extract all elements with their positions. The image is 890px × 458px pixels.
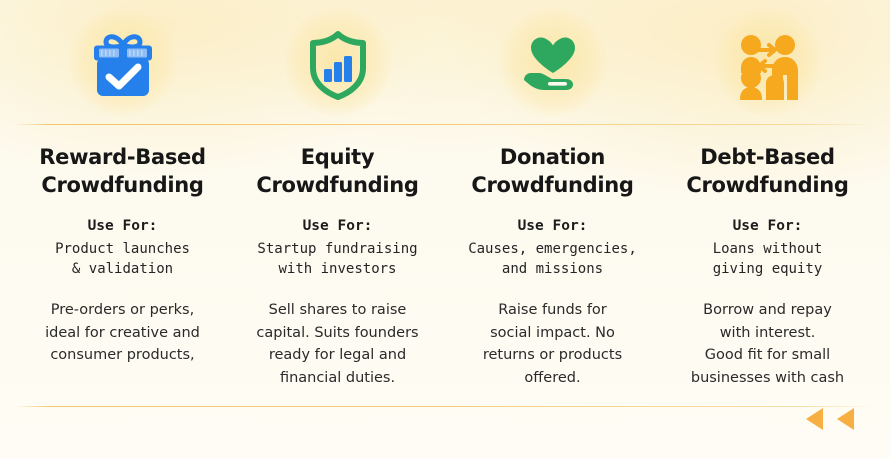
column-donation: Donation Crowdfunding Use For: Causes, e… bbox=[445, 128, 660, 404]
column-title: Donation Crowdfunding bbox=[471, 144, 633, 200]
use-for-label: Use For: bbox=[303, 217, 373, 236]
icon-cell-reward-based bbox=[15, 0, 230, 124]
use-for-label: Use For: bbox=[518, 217, 588, 236]
icon-cell-donation bbox=[445, 0, 660, 124]
triangle-left-icon-first[interactable] bbox=[806, 408, 823, 430]
gift-check-icon bbox=[84, 26, 162, 104]
content-columns: Reward-Based Crowdfunding Use For: Produ… bbox=[15, 128, 875, 404]
column-debt-based: Debt-Based Crowdfunding Use For: Loans w… bbox=[660, 128, 875, 404]
use-for-label: Use For: bbox=[733, 217, 803, 236]
column-description: Borrow and repay with interest. Good fit… bbox=[691, 299, 844, 389]
heart-in-hand-icon bbox=[514, 26, 592, 104]
icon-cell-equity bbox=[230, 0, 445, 124]
shield-bar-chart-icon bbox=[299, 26, 377, 104]
column-title: Debt-Based Crowdfunding bbox=[686, 144, 848, 200]
use-for-label: Use For: bbox=[88, 217, 158, 236]
column-reward-based: Reward-Based Crowdfunding Use For: Produ… bbox=[15, 128, 230, 404]
use-for-value: Causes, emergencies, and missions bbox=[468, 239, 637, 280]
column-description: Raise funds for social impact. No return… bbox=[483, 299, 622, 389]
icon-row bbox=[15, 0, 875, 124]
people-exchange-icon bbox=[729, 26, 807, 104]
column-description: Sell shares to raise capital. Suits foun… bbox=[256, 299, 418, 389]
use-for-value: Startup fundraising with investors bbox=[257, 239, 417, 280]
navigation-arrows bbox=[806, 408, 854, 430]
column-equity: Equity Crowdfunding Use For: Startup fun… bbox=[230, 128, 445, 404]
triangle-left-icon-second[interactable] bbox=[837, 408, 854, 430]
icon-cell-debt-based bbox=[660, 0, 875, 124]
column-title: Reward-Based Crowdfunding bbox=[39, 144, 205, 200]
column-title: Equity Crowdfunding bbox=[256, 144, 418, 200]
use-for-value: Loans without giving equity bbox=[713, 239, 823, 280]
use-for-value: Product launches & validation bbox=[55, 239, 190, 280]
slide-canvas: Reward-Based Crowdfunding Use For: Produ… bbox=[0, 0, 890, 458]
divider-top bbox=[15, 124, 875, 125]
column-description: Pre-orders or perks, ideal for creative … bbox=[45, 299, 200, 366]
divider-bottom bbox=[15, 406, 875, 407]
